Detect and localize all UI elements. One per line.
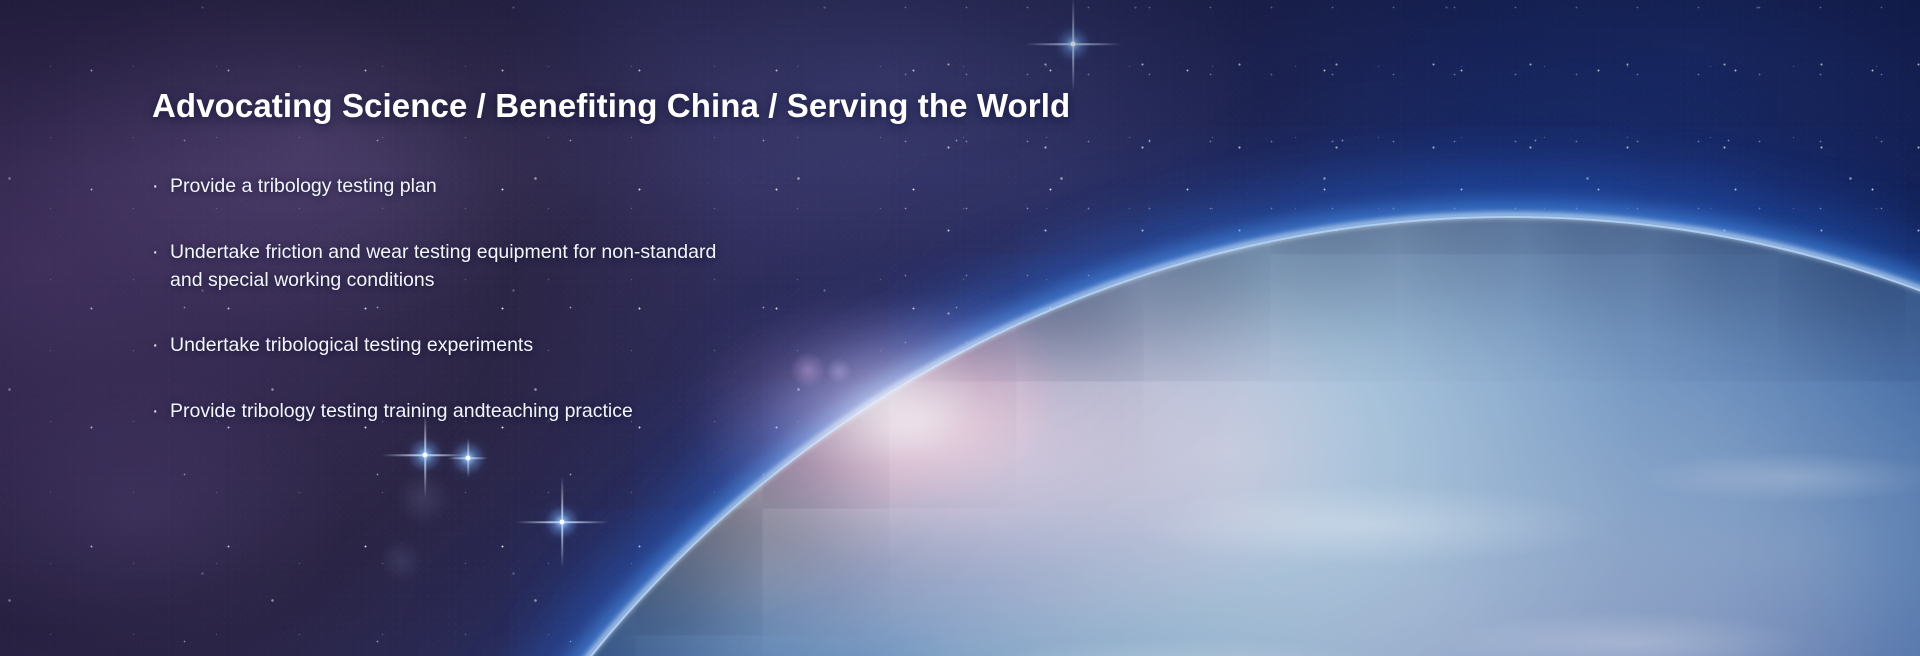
- list-item-label: Undertake tribological testing experimen…: [170, 332, 533, 360]
- service-list: ·Provide a tribology testing plan·Undert…: [152, 173, 1112, 425]
- list-item: ·Provide tribology testing training andt…: [152, 398, 1112, 426]
- list-item-label: Undertake friction and wear testing equi…: [170, 239, 716, 294]
- list-item: ·Undertake friction and wear testing equ…: [152, 239, 1112, 294]
- list-item: ·Provide a tribology testing plan: [152, 173, 1112, 201]
- page-title: Advocating Science / Benefiting China / …: [152, 88, 1112, 124]
- bullet-dot-icon: ·: [152, 173, 170, 201]
- list-item-label: Provide a tribology testing plan: [170, 173, 437, 201]
- bullet-dot-icon: ·: [152, 332, 170, 360]
- list-item-label: Provide tribology testing training andte…: [170, 398, 633, 426]
- bullet-dot-icon: ·: [152, 398, 170, 426]
- hero-banner: Advocating Science / Benefiting China / …: [0, 0, 1920, 656]
- list-item: ·Undertake tribological testing experime…: [152, 332, 1112, 360]
- banner-content: Advocating Science / Benefiting China / …: [152, 88, 1112, 426]
- bullet-dot-icon: ·: [152, 239, 170, 267]
